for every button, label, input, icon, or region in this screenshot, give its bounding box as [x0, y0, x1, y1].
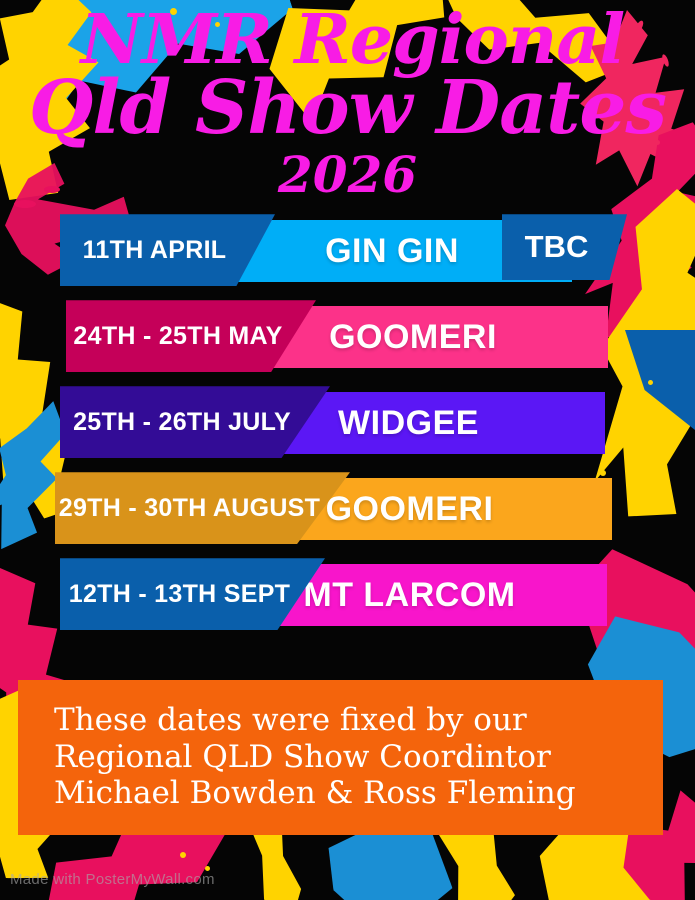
year-label: 2026 [0, 150, 695, 200]
note-line-3: Michael Bowden & Ross Fleming [54, 775, 663, 812]
note-line-2: Regional QLD Show Coordintor [54, 739, 663, 776]
date-label: 25TH - 26TH JULY [73, 408, 291, 437]
schedule-row[interactable]: WIDGEE 25TH - 26TH JULY [0, 386, 695, 456]
speck-yellow-9 [180, 852, 186, 858]
schedule-row[interactable]: GOOMERI 24TH - 25TH MAY [0, 300, 695, 370]
page-title-line1: NMR Regional [10, 8, 695, 73]
poster-header: NMR Regional Qld Show Dates 2026 [0, 0, 695, 200]
date-label: 29TH - 30TH AUGUST [59, 494, 320, 523]
date-label: 24TH - 25TH MAY [73, 322, 282, 351]
schedule-list: GIN GIN 11TH APRIL TBC GOOMERI 24TH - 25… [0, 214, 695, 628]
poster-canvas: NMR Regional Qld Show Dates 2026 GIN GIN… [0, 0, 695, 900]
schedule-row[interactable]: GOOMERI 29TH - 30TH AUGUST [0, 472, 695, 542]
schedule-row[interactable]: GIN GIN 11TH APRIL TBC [0, 214, 695, 284]
speck-pink-left-2 [14, 200, 36, 208]
status-badge: TBC [502, 214, 627, 280]
note-box: These dates were fixed by our Regional Q… [18, 680, 663, 835]
date-label: 12TH - 13TH SEPT [69, 580, 291, 609]
watermark: Made with PosterMyWall.com [10, 871, 215, 888]
date-label: 11TH APRIL [83, 236, 227, 265]
schedule-row[interactable]: MT LARCOM 12TH - 13TH SEPT [0, 558, 695, 628]
status-badge-label: TBC [525, 229, 589, 265]
page-title-line2: Qld Show Dates [0, 73, 695, 144]
note-line-1: These dates were fixed by our [54, 702, 663, 739]
